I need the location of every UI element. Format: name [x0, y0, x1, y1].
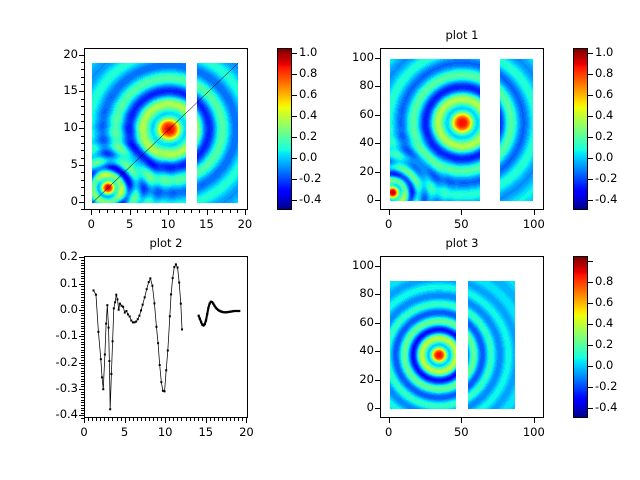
y-minor-tick	[81, 263, 84, 264]
panel-top-right-title: plot 1	[380, 28, 544, 42]
data-point-marker	[113, 307, 115, 309]
panel-top-right-axes[interactable]	[380, 48, 544, 210]
x-minor-tick	[121, 418, 122, 421]
data-point-marker	[204, 323, 206, 325]
colorbar-tick-label: 0.4	[595, 108, 635, 122]
data-point-marker	[207, 307, 209, 309]
x-minor-tick	[173, 418, 174, 421]
data-point-marker	[149, 277, 151, 279]
y-minor-tick	[81, 297, 84, 298]
data-point-marker	[109, 408, 111, 410]
data-point-marker	[106, 304, 108, 306]
y-tick-label: 0.0	[40, 302, 78, 316]
data-point-marker	[199, 318, 201, 320]
y-minor-tick	[81, 195, 84, 196]
y-minor-tick	[81, 339, 84, 340]
y-minor-tick	[81, 114, 84, 115]
x-minor-tick	[218, 418, 219, 421]
data-point-marker	[125, 310, 127, 312]
y-minor-tick	[81, 69, 84, 70]
y-major-tick	[79, 363, 84, 364]
data-point-marker	[97, 331, 99, 333]
y-minor-tick	[81, 289, 84, 290]
y-minor-tick	[81, 260, 84, 261]
y-major-tick	[79, 257, 84, 258]
x-minor-tick	[238, 418, 239, 421]
x-tick-label: 0	[369, 425, 409, 439]
y-tick-label: 0	[336, 192, 374, 206]
colorbar-tick-label: 1.0	[299, 45, 339, 59]
colorbar-tick-label: -0.2	[595, 379, 635, 393]
data-point-marker	[153, 302, 155, 304]
x-major-tick	[461, 210, 462, 215]
x-minor-tick	[145, 418, 146, 421]
y-minor-tick	[81, 347, 84, 348]
y-tick-label: -0.2	[40, 355, 78, 369]
colorbar-tick	[292, 95, 297, 96]
data-point-marker	[108, 327, 110, 329]
colorbar-tick-label: -0.4	[595, 400, 635, 414]
x-minor-tick	[100, 418, 101, 421]
data-point-marker	[140, 309, 142, 311]
y-minor-tick	[81, 344, 84, 345]
y-minor-tick	[81, 84, 84, 85]
panel-top-right-colorbar	[573, 48, 588, 210]
y-major-tick	[375, 351, 380, 352]
y-minor-tick	[81, 302, 84, 303]
y-tick-label: 0	[40, 194, 78, 208]
y-major-tick	[375, 115, 380, 116]
y-minor-tick	[81, 381, 84, 382]
y-major-tick	[79, 284, 84, 285]
y-minor-tick	[81, 408, 84, 409]
data-point-marker	[114, 301, 116, 303]
data-point-marker	[108, 360, 110, 362]
x-major-tick	[534, 210, 535, 215]
x-minor-tick	[230, 210, 231, 213]
x-minor-tick	[230, 418, 231, 421]
y-major-tick	[79, 91, 84, 92]
data-point-marker	[177, 267, 179, 269]
x-tick-label: 0	[369, 217, 409, 231]
y-minor-tick	[81, 334, 84, 335]
y-tick-label: 40	[336, 135, 374, 149]
data-point-marker	[160, 381, 162, 383]
y-minor-tick	[81, 286, 84, 287]
y-minor-tick	[81, 305, 84, 306]
y-minor-tick	[81, 99, 84, 100]
x-tick-label: 5	[110, 217, 150, 231]
y-major-tick	[79, 389, 84, 390]
x-minor-tick	[153, 418, 154, 421]
colorbar-tick	[292, 158, 297, 159]
y-tick-label: 80	[336, 286, 374, 300]
colorbar-tick-label: 0.4	[299, 108, 339, 122]
x-minor-tick	[169, 418, 170, 421]
x-minor-tick	[107, 210, 108, 213]
y-tick-label: 100	[336, 50, 374, 64]
data-point-marker	[172, 277, 174, 279]
data-point-marker	[101, 376, 103, 378]
x-minor-tick	[88, 418, 89, 421]
panel-top-right-heatmap	[381, 49, 544, 210]
x-minor-tick	[222, 418, 223, 421]
y-minor-tick	[81, 350, 84, 351]
data-point-marker	[159, 364, 161, 366]
panel-bottom-left-axes[interactable]	[84, 256, 248, 418]
x-minor-tick	[133, 418, 134, 421]
x-minor-tick	[210, 418, 211, 421]
colorbar-tick-label: 0.0	[299, 150, 339, 164]
x-minor-tick	[226, 418, 227, 421]
colorbar-tick	[588, 179, 593, 180]
y-minor-tick	[81, 360, 84, 361]
data-point-marker	[198, 315, 200, 317]
y-minor-tick	[81, 158, 84, 159]
x-minor-tick	[122, 210, 123, 213]
data-point-marker	[170, 293, 172, 295]
panel-top-left-colorbar-gradient	[278, 49, 292, 210]
data-point-marker	[129, 316, 131, 318]
x-major-tick	[84, 418, 85, 423]
panel-top-right-colorbar-gradient	[574, 49, 588, 210]
data-point-marker	[148, 281, 150, 283]
y-minor-tick	[81, 187, 84, 188]
colorbar-tick-label: 0.2	[595, 129, 635, 143]
y-minor-tick	[81, 328, 84, 329]
x-major-tick	[125, 418, 126, 423]
y-minor-tick	[81, 321, 84, 322]
x-minor-tick	[108, 418, 109, 421]
y-minor-tick	[81, 307, 84, 308]
y-tick-label: -0.1	[40, 328, 78, 342]
panel-top-left-heatmap	[85, 49, 248, 210]
data-point-marker	[118, 309, 120, 311]
y-major-tick	[375, 200, 380, 201]
y-major-tick	[375, 86, 380, 87]
y-major-tick	[79, 55, 84, 56]
panel-top-left-axes[interactable]	[84, 48, 248, 210]
x-minor-tick	[114, 210, 115, 213]
y-major-tick	[375, 58, 380, 59]
y-minor-tick	[81, 355, 84, 356]
data-point-marker	[205, 319, 207, 321]
y-minor-tick	[81, 400, 84, 401]
y-tick-label: 0	[336, 400, 374, 414]
colorbar-tick-label: 0.6	[299, 87, 339, 101]
data-point-marker	[142, 304, 144, 306]
y-minor-tick	[81, 392, 84, 393]
y-minor-tick	[81, 323, 84, 324]
y-minor-tick	[81, 271, 84, 272]
data-point-marker	[135, 321, 137, 323]
data-point-marker	[169, 315, 171, 317]
x-major-tick	[246, 418, 247, 423]
x-minor-tick	[191, 210, 192, 213]
colorbar-tick-label: 0.6	[595, 295, 635, 309]
data-point-marker	[105, 323, 107, 325]
data-point-marker	[151, 285, 153, 287]
y-minor-tick	[81, 386, 84, 387]
y-minor-tick	[81, 402, 84, 403]
colorbar-tick-label: 0.4	[595, 316, 635, 330]
colorbar-tick	[292, 179, 297, 180]
panel-bottom-left-title: plot 2	[84, 236, 248, 250]
y-minor-tick	[81, 315, 84, 316]
y-tick-label: 20	[40, 47, 78, 61]
colorbar-tick-label: 0.8	[595, 66, 635, 80]
y-minor-tick	[81, 143, 84, 144]
data-point-marker	[138, 315, 140, 317]
y-minor-tick	[81, 77, 84, 78]
y-tick-label: 10	[40, 120, 78, 134]
x-tick-label: 20	[225, 217, 265, 231]
y-tick-label: 20	[336, 372, 374, 386]
data-point-marker	[200, 321, 202, 323]
data-point-marker	[95, 294, 97, 296]
colorbar-tick-label: -0.4	[299, 192, 339, 206]
y-minor-tick	[81, 281, 84, 282]
y-tick-label: 60	[336, 107, 374, 121]
x-minor-tick	[161, 418, 162, 421]
colorbar-tick-label: -0.2	[595, 171, 635, 185]
colorbar-tick	[588, 158, 593, 159]
data-point-marker	[238, 310, 240, 312]
data-point-marker	[144, 296, 146, 298]
y-minor-tick	[81, 106, 84, 107]
y-minor-tick	[81, 384, 84, 385]
y-minor-tick	[81, 373, 84, 374]
y-minor-tick	[81, 276, 84, 277]
data-point-marker	[175, 263, 177, 265]
colorbar-tick	[588, 303, 593, 304]
y-major-tick	[79, 336, 84, 337]
y-minor-tick	[81, 365, 84, 366]
y-minor-tick	[81, 376, 84, 377]
y-major-tick	[375, 323, 380, 324]
y-tick-label: 100	[336, 258, 374, 272]
colorbar-tick	[292, 137, 297, 138]
x-minor-tick	[198, 418, 199, 421]
x-minor-tick	[237, 210, 238, 213]
colorbar-tick	[588, 95, 593, 96]
colorbar-tick	[588, 345, 593, 346]
colorbar-tick	[588, 200, 593, 201]
colorbar-tick	[588, 366, 593, 367]
x-minor-tick	[184, 210, 185, 213]
y-minor-tick	[81, 300, 84, 301]
y-minor-tick	[81, 278, 84, 279]
x-major-tick	[130, 210, 131, 215]
y-tick-label: -0.3	[40, 381, 78, 395]
y-major-tick	[79, 415, 84, 416]
panel-bottom-right-heatmap	[381, 257, 544, 418]
panel-bottom-left-lineplot	[85, 257, 248, 418]
colorbar-tick	[292, 74, 297, 75]
x-minor-tick	[141, 418, 142, 421]
colorbar-tick-label: 0.0	[595, 358, 635, 372]
x-tick-label: 15	[186, 425, 226, 439]
y-minor-tick	[81, 352, 84, 353]
y-minor-tick	[81, 368, 84, 369]
y-minor-tick	[81, 318, 84, 319]
x-tick-label: 100	[514, 425, 554, 439]
data-point-marker	[119, 303, 121, 305]
y-major-tick	[79, 128, 84, 129]
y-major-tick	[375, 294, 380, 295]
data-point-marker	[155, 326, 157, 328]
y-minor-tick	[81, 410, 84, 411]
panel-bottom-right-colorbar-gradient	[574, 257, 588, 418]
colorbar-tick-label: 0.2	[595, 337, 635, 351]
x-minor-tick	[176, 210, 177, 213]
colorbar-tick-label: -0.4	[595, 192, 635, 206]
x-major-tick	[91, 210, 92, 215]
y-minor-tick	[81, 331, 84, 332]
colorbar-tick-label: 0.0	[595, 150, 635, 164]
y-major-tick	[79, 165, 84, 166]
x-tick-label: 100	[514, 217, 554, 231]
x-major-tick	[461, 418, 462, 423]
x-minor-tick	[149, 418, 150, 421]
x-tick-label: 50	[441, 425, 481, 439]
colorbar-tick	[588, 74, 593, 75]
data-point-marker	[167, 350, 169, 352]
y-major-tick	[375, 143, 380, 144]
y-tick-label: 40	[336, 343, 374, 357]
y-tick-label: 15	[40, 83, 78, 97]
data-point-marker	[127, 313, 129, 315]
y-minor-tick	[81, 265, 84, 266]
colorbar-tick	[588, 53, 593, 54]
x-major-tick	[389, 418, 390, 423]
y-tick-label: 0.2	[40, 249, 78, 263]
colorbar-tick-label: 0.8	[595, 274, 635, 288]
x-minor-tick	[137, 418, 138, 421]
colorbar-tick-label: -0.2	[299, 171, 339, 185]
y-minor-tick	[81, 397, 84, 398]
x-minor-tick	[202, 418, 203, 421]
x-tick-label: 0	[64, 425, 104, 439]
x-major-tick	[207, 210, 208, 215]
x-minor-tick	[96, 418, 97, 421]
colorbar-tick	[292, 200, 297, 201]
x-minor-tick	[199, 210, 200, 213]
x-minor-tick	[177, 418, 178, 421]
data-point-marker	[164, 390, 166, 392]
y-minor-tick	[81, 121, 84, 122]
colorbar-tick	[292, 53, 297, 54]
colorbar-tick-label: 1.0	[595, 45, 635, 59]
panel-top-left-colorbar	[277, 48, 292, 210]
panel-bottom-right-axes[interactable]	[380, 256, 544, 418]
colorbar-tick	[588, 408, 593, 409]
y-minor-tick	[81, 268, 84, 269]
colorbar-tick	[588, 261, 593, 262]
data-point-marker	[181, 328, 183, 330]
data-point-marker	[112, 340, 114, 342]
colorbar-tick-label: 0.8	[299, 66, 339, 80]
x-major-tick	[245, 210, 246, 215]
x-tick-label: 0	[71, 217, 111, 231]
data-point-marker	[102, 388, 104, 390]
data-point-marker	[206, 313, 208, 315]
x-minor-tick	[129, 418, 130, 421]
x-tick-label: 10	[145, 425, 185, 439]
colorbar-tick	[588, 387, 593, 388]
x-tick-label: 15	[187, 217, 227, 231]
colorbar-tick	[588, 282, 593, 283]
x-minor-tick	[99, 210, 100, 213]
x-minor-tick	[92, 418, 93, 421]
y-minor-tick	[81, 136, 84, 137]
y-minor-tick	[81, 172, 84, 173]
data-point-marker	[115, 294, 117, 296]
y-minor-tick	[81, 357, 84, 358]
data-point-marker	[178, 282, 180, 284]
y-minor-tick	[81, 405, 84, 406]
y-major-tick	[375, 172, 380, 173]
y-major-tick	[375, 380, 380, 381]
y-minor-tick	[81, 150, 84, 151]
x-major-tick	[168, 210, 169, 215]
colorbar-tick	[588, 137, 593, 138]
x-minor-tick	[186, 418, 187, 421]
x-minor-tick	[181, 418, 182, 421]
x-major-tick	[165, 418, 166, 423]
x-tick-label: 5	[105, 425, 145, 439]
colorbar-tick	[588, 116, 593, 117]
y-minor-tick	[81, 62, 84, 63]
y-minor-tick	[81, 394, 84, 395]
y-minor-tick	[81, 209, 84, 210]
data-point-marker	[157, 342, 159, 344]
data-point-marker	[146, 288, 148, 290]
x-minor-tick	[157, 418, 158, 421]
y-minor-tick	[81, 342, 84, 343]
y-tick-label: 20	[336, 164, 374, 178]
x-minor-tick	[190, 418, 191, 421]
y-tick-label: 5	[40, 157, 78, 171]
y-tick-label: 60	[336, 315, 374, 329]
data-point-marker	[130, 319, 132, 321]
x-tick-label: 10	[148, 217, 188, 231]
x-minor-tick	[214, 210, 215, 213]
y-minor-tick	[81, 413, 84, 414]
y-major-tick	[375, 408, 380, 409]
figure-canvas: 0510152005101520 1.00.80.60.40.20.0-0.2-…	[0, 0, 640, 480]
data-point-marker	[110, 373, 112, 375]
data-point-marker	[137, 318, 139, 320]
x-major-tick	[534, 418, 535, 423]
y-tick-label: 0.1	[40, 276, 78, 290]
x-major-tick	[206, 418, 207, 423]
colorbar-tick-label: 0.2	[299, 129, 339, 143]
x-minor-tick	[222, 210, 223, 213]
x-minor-tick	[214, 418, 215, 421]
y-major-tick	[79, 310, 84, 311]
data-point-marker	[100, 358, 102, 360]
y-major-tick	[79, 202, 84, 203]
data-point-marker	[93, 289, 95, 291]
x-minor-tick	[145, 210, 146, 213]
x-minor-tick	[153, 210, 154, 213]
colorbar-tick-label: 0.6	[595, 87, 635, 101]
y-minor-tick	[81, 180, 84, 181]
y-minor-tick	[81, 273, 84, 274]
data-point-marker	[212, 303, 214, 305]
data-point-marker	[180, 303, 182, 305]
